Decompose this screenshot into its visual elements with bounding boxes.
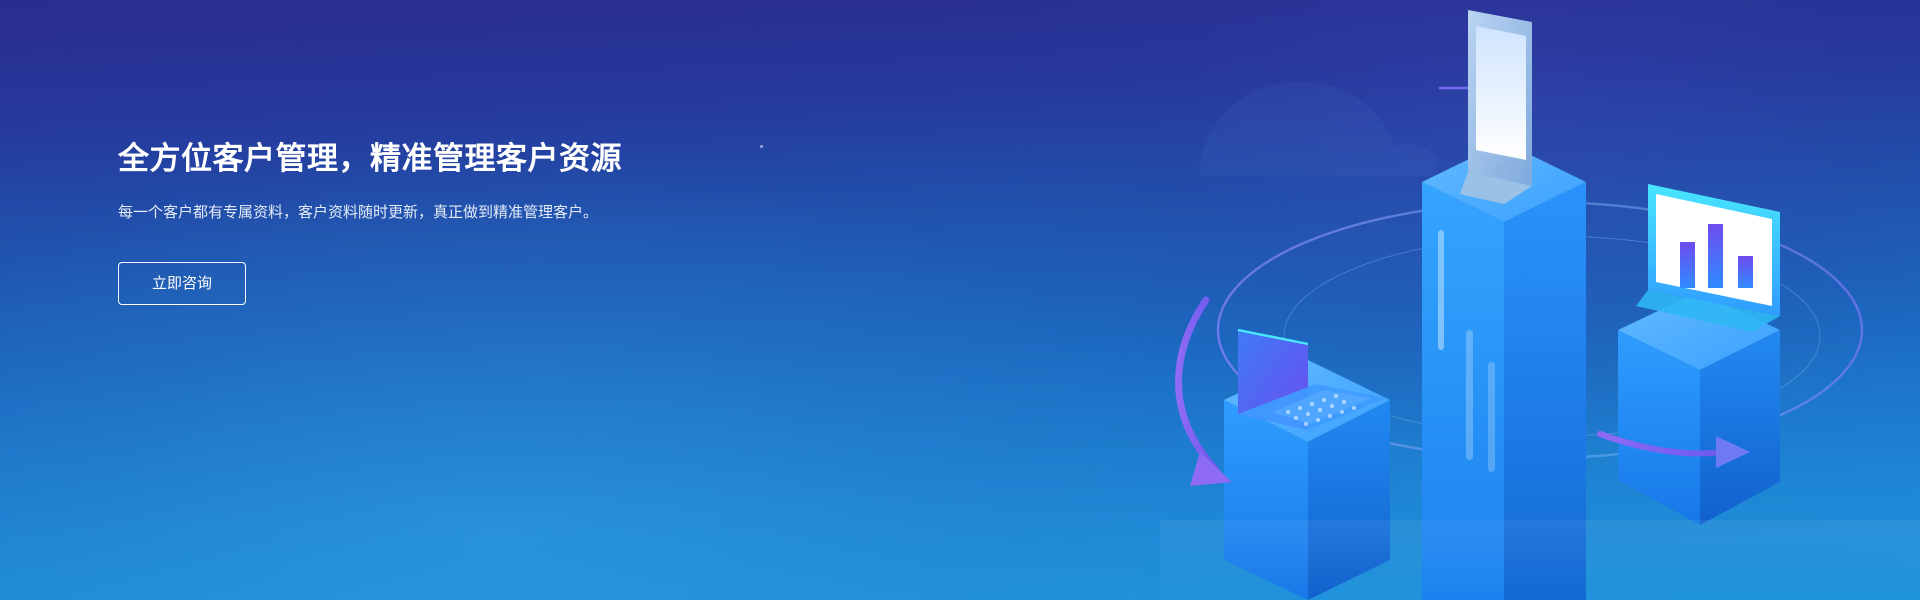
- hero-illustration: [1160, 0, 1920, 600]
- consult-now-button[interactable]: 立即咨询: [118, 262, 246, 305]
- monitor-device: [1636, 184, 1780, 332]
- decorative-cloud: [1200, 82, 1436, 176]
- orbit-arrow-left: [1179, 300, 1232, 486]
- tablet-home-button: [1496, 166, 1505, 175]
- pillar-streak: [1438, 230, 1444, 350]
- page-title: 全方位客户管理，精准管理客户资源: [118, 140, 758, 179]
- pillar-streak: [1466, 330, 1473, 460]
- hero-copy: 全方位客户管理，精准管理客户资源 每一个客户都有专属资料，客户资料随时更新，真正…: [118, 140, 758, 305]
- decorative-spark: [760, 145, 763, 148]
- tablet-device: [1460, 10, 1532, 204]
- pillar-streak: [1488, 362, 1495, 472]
- hero-banner: 全方位客户管理，精准管理客户资源 每一个客户都有专属资料，客户资料随时更新，真正…: [0, 0, 1920, 600]
- hero-subtitle: 每一个客户都有专属资料，客户资料随时更新，真正做到精准管理客户。: [118, 201, 598, 224]
